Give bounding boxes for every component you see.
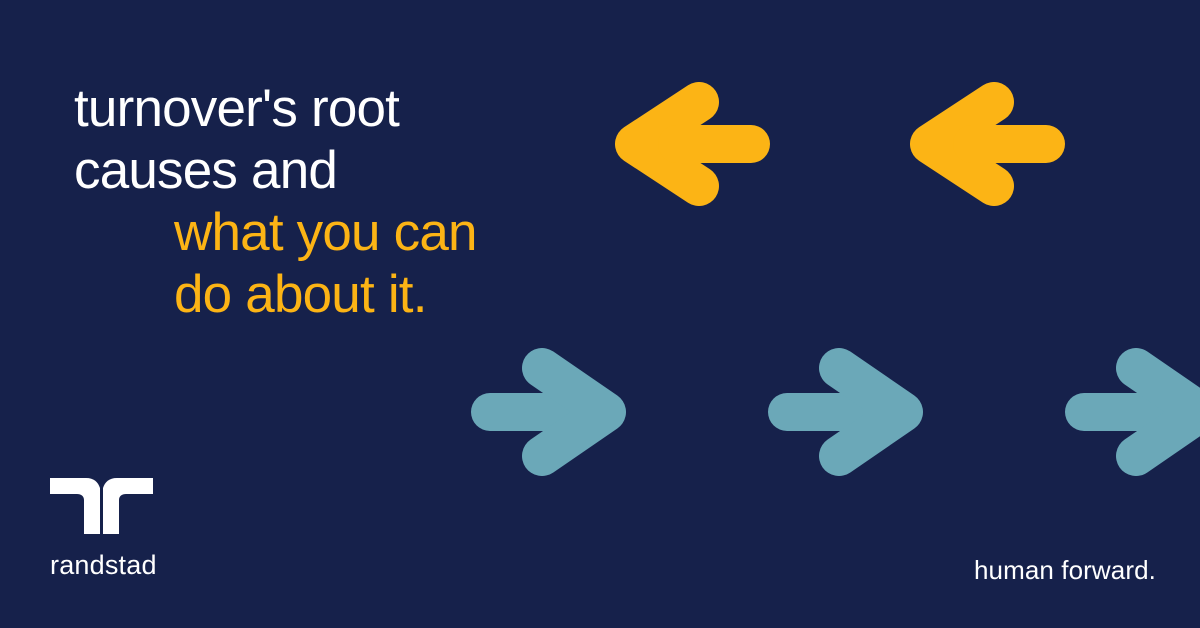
headline-line-3: what you can (74, 202, 594, 264)
teal-right-arrow-1-icon (468, 346, 626, 478)
randstad-wordmark: randstad (50, 551, 157, 579)
teal-right-arrow-2-icon (765, 346, 923, 478)
tagline-human-forward: human forward. (974, 556, 1156, 584)
headline-line-2: causes and (74, 140, 594, 202)
teal-right-arrow-3-icon (1062, 346, 1200, 478)
headline-line-4: do about it. (74, 264, 594, 326)
headline-block: turnover's root causes and what you can … (74, 78, 594, 326)
yellow-left-arrow-1-icon (615, 82, 771, 206)
headline-line-1: turnover's root (74, 78, 594, 140)
yellow-left-arrow-2-icon (910, 82, 1066, 206)
randstad-logo: randstad (50, 478, 157, 579)
randstad-logo-mark-icon (50, 478, 157, 539)
promo-banner: turnover's root causes and what you can … (0, 0, 1200, 628)
